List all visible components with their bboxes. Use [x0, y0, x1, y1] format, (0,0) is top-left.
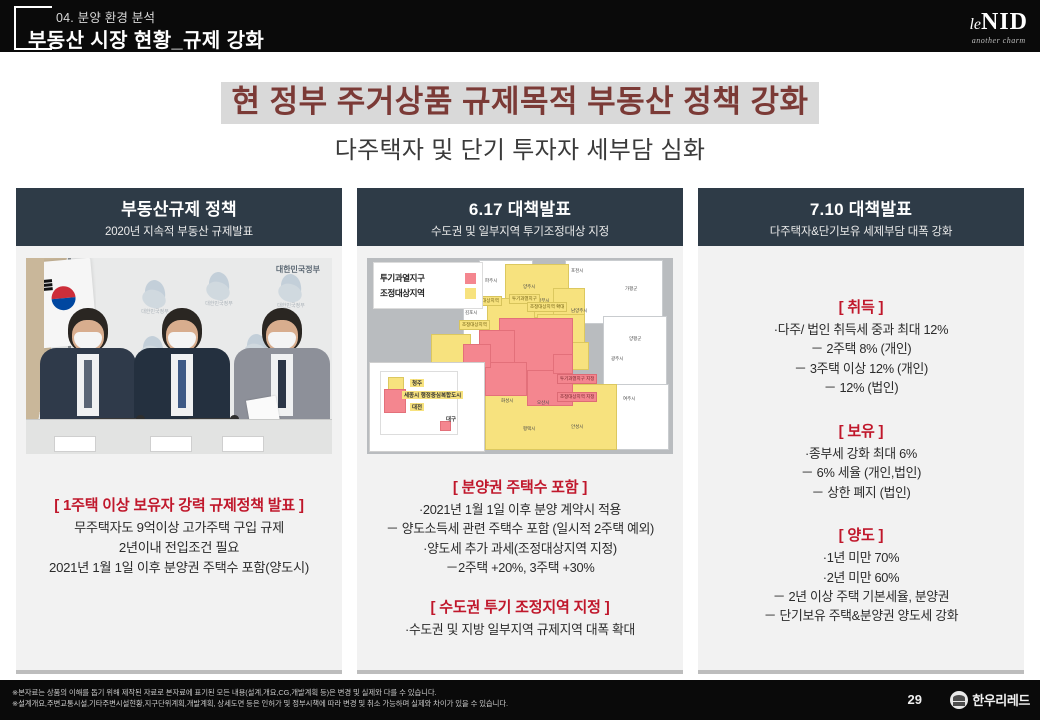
card3-block-line: － 6% 세율 (개인,법인) — [708, 463, 1014, 482]
legend-swatch-pink — [465, 273, 476, 284]
official-person — [134, 308, 230, 424]
card1-block-line: 무주택자도 9억이상 고가주택 구입 규제 — [26, 518, 332, 538]
card2-block-heading: [ 수도권 투기 조정지역 지정 ] — [367, 596, 673, 617]
inset-label: 세종시 행정중심복합도시 — [402, 391, 463, 399]
inset-label: 대구 — [444, 415, 458, 423]
footer-disclaimer-line1: ※본자료는 상품의 이해를 돕기 위해 제작된 자료로 본자료에 표기된 모든 … — [12, 687, 508, 698]
card1-title: 부동산규제 정책 — [121, 195, 237, 220]
inset-label: 청주 — [410, 379, 424, 387]
card3-block-acquisition: [ 취득 ] ·다주/ 법인 취득세 중과 최대 12% － 2주택 8% (개… — [708, 296, 1014, 398]
sub-title: 다주택자 및 단기 투자자 세부담 심화 — [0, 130, 1040, 165]
card-617-measures: 6.17 대책발표 수도권 및 일부지역 투기조정대상 지정 — [357, 188, 683, 674]
map-city-label: 양평군 — [629, 336, 641, 342]
card2-block-2: [ 수도권 투기 조정지역 지정 ] ·수도권 및 지방 일부지역 규제지역 대… — [367, 596, 673, 639]
card3-block-line: － 상한 폐지 (법인) — [708, 483, 1014, 502]
card3-header: 7.10 대책발표 다주택자&단기보유 세제부담 대폭 강화 — [698, 188, 1024, 246]
map-city-label: 파주시 — [485, 278, 497, 284]
card1-block-heading: [ 1주택 이상 보유자 강력 규제정책 발표 ] — [26, 494, 332, 515]
card2-block-line: － 양도소득세 관련 주택수 포함 (일시적 2주택 예외) — [367, 519, 673, 538]
card3-block-heading: [ 보유 ] — [708, 420, 1014, 441]
map-city-label: 안성시 — [571, 424, 583, 430]
main-title: 현 정부 주거상품 규제목적 부동산 정책 강화 — [221, 82, 818, 124]
map-annotation-tag: 조정대상지역 지정 — [557, 392, 597, 402]
page-number: 29 — [908, 692, 922, 707]
map-annotation-tag: 투기과열지구 지정 — [557, 374, 597, 384]
footer-brand-name: 한우리레드 — [972, 690, 1030, 709]
map-city-label: 김포시 — [465, 310, 477, 316]
card3-block-line: － 12% (법인) — [708, 378, 1014, 397]
legend-item-adjustment: 조정대상지역 — [380, 287, 476, 299]
title-section: 현 정부 주거상품 규제목적 부동산 정책 강화 다주택자 및 단기 투자자 세… — [0, 82, 1040, 165]
legend-swatch-yellow — [465, 288, 476, 299]
map-city-label: 양주시 — [523, 284, 535, 290]
map-city-label: 남양주시 — [571, 308, 588, 314]
card1-block-line: 2021년 1월 1일 이후 분양권 주택수 포함(양도시) — [26, 558, 332, 578]
card2-block-line: －2주택 +20%, 3주택 +30% — [367, 558, 673, 577]
map-zone-speculation — [485, 362, 527, 396]
map-city-label: 화성시 — [501, 398, 513, 404]
card1-header: 부동산규제 정책 2020년 지속적 부동산 규제발표 — [16, 188, 342, 246]
card3-block-holding: [ 보유 ] ·종부세 강화 최대 6% － 6% 세율 (개인,법인) － 상… — [708, 420, 1014, 502]
map-city-label: 오산시 — [537, 400, 549, 406]
card3-block-line: ·1년 미만 70% — [708, 548, 1014, 567]
official-person — [40, 308, 136, 424]
brand-logo: leNID another charm — [969, 10, 1028, 45]
card3-block-line: － 단기보유 주택&분양권 양도세 강화 — [708, 606, 1014, 625]
nameplate — [150, 436, 192, 452]
card2-header: 6.17 대책발표 수도권 및 일부지역 투기조정대상 지정 — [357, 188, 683, 246]
card2-subtitle: 수도권 및 일부지역 투기조정대상 지정 — [431, 223, 609, 239]
card1-subtitle: 2020년 지속적 부동산 규제발표 — [105, 223, 253, 239]
logo-tagline: another charm — [969, 36, 1028, 45]
page-title: 부동산 시장 현황_규제 강화 — [28, 24, 264, 53]
card1-body: 대한민국정부 대한민국정부 대한민국정부 대한민국정부 대한민국정부 대한민국정… — [16, 246, 342, 578]
card2-block-1: [ 분양권 주택수 포함 ] ·2021년 1월 1일 이후 분양 계약시 적용… — [367, 476, 673, 578]
map-zone-speculation — [553, 354, 573, 374]
card3-block-line: － 2년 이상 주택 기본세율, 분양권 — [708, 587, 1014, 606]
card2-block-line: ·수도권 및 지방 일부지역 규제지역 대폭 확대 — [367, 620, 673, 639]
card3-subtitle: 다주택자&단기보유 세제부담 대폭 강화 — [770, 223, 953, 239]
map-city-label: 포천시 — [571, 268, 583, 274]
footer-brand-logo: 한우리레드 — [950, 690, 1030, 709]
logo-le-text: le — [969, 16, 981, 33]
map-city-label: 여주시 — [623, 396, 635, 402]
map-city-label: 평택시 — [523, 426, 535, 432]
card3-block-heading: [ 취득 ] — [708, 296, 1014, 317]
card3-block-line: － 2주택 8% (개인) — [708, 339, 1014, 358]
nameplate — [54, 436, 96, 452]
card3-block-heading: [ 양도 ] — [708, 524, 1014, 545]
card-real-estate-policy: 부동산규제 정책 2020년 지속적 부동산 규제발표 대한민국정부 대한민국정… — [16, 188, 342, 674]
map-annotation-tag: 조정대상지역 확대 — [527, 302, 567, 312]
press-conference-photo: 대한민국정부 대한민국정부 대한민국정부 대한민국정부 대한민국정부 대한민국정… — [26, 258, 332, 454]
card2-block-line: ·양도세 추가 과세(조정대상지역 지정) — [367, 539, 673, 558]
footer-disclaimer: ※본자료는 상품의 이해를 돕기 위해 제작된 자료로 본자료에 표기된 모든 … — [12, 687, 508, 709]
slide-header: 04. 분양 환경 분석 부동산 시장 현황_규제 강화 leNID anoth… — [0, 0, 1040, 52]
map-annotation-tag: 조정대상지역 — [459, 320, 490, 330]
map-city-label: 가평군 — [625, 286, 637, 292]
map-inset-regional: 청주 세종시 행정중심복합도시 대전 대구 — [369, 362, 485, 452]
footer-disclaimer-line2: ※설계개요,주변교통시설,기타주변시설현황,지구단위계획,개발계획, 상세도면 … — [12, 698, 508, 709]
card3-block-line: ·다주/ 법인 취득세 중과 최대 12% — [708, 320, 1014, 339]
map-legend: 투기과열지구 조정대상지역 — [373, 262, 483, 309]
inset-label: 대전 — [410, 403, 424, 411]
nameplate — [222, 436, 264, 452]
card2-title: 6.17 대책발표 — [469, 195, 571, 220]
logo-wordmark: leNID — [969, 10, 1028, 34]
card2-block-heading: [ 분양권 주택수 포함 ] — [367, 476, 673, 497]
legend-item-speculation: 투기과열지구 — [380, 272, 476, 284]
legend-label: 투기과열지구 — [380, 272, 425, 284]
card3-block-line: － 3주택 이상 12% (개인) — [708, 359, 1014, 378]
hanwoori-logo-icon — [950, 691, 968, 709]
card3-body: [ 취득 ] ·다주/ 법인 취득세 중과 최대 12% － 2주택 8% (개… — [698, 246, 1024, 626]
card-710-measures: 7.10 대책발표 다주택자&단기보유 세제부담 대폭 강화 [ 취득 ] ·다… — [698, 188, 1024, 674]
card1-block: [ 1주택 이상 보유자 강력 규제정책 발표 ] 무주택자도 9억이상 고가주… — [26, 494, 332, 578]
card3-block-transfer: [ 양도 ] ·1년 미만 70% ·2년 미만 60% － 2년 이상 주택 … — [708, 524, 1014, 626]
card3-block-line: ·2년 미만 60% — [708, 568, 1014, 587]
card1-block-line: 2년이내 전입조건 필요 — [26, 538, 332, 558]
card2-block-line: ·2021년 1월 1일 이후 분양 계약시 적용 — [367, 500, 673, 519]
slide-footer: ※본자료는 상품의 이해를 돕기 위해 제작된 자료로 본자료에 표기된 모든 … — [0, 680, 1040, 720]
legend-label: 조정대상지역 — [380, 287, 425, 299]
regulation-zone-map: 파주시 포천시 가평군 양주시 의정부시 남양주시 김포시 인천시 광주시 화성… — [367, 258, 673, 454]
card3-block-line: ·종부세 강화 최대 6% — [708, 444, 1014, 463]
logo-nid-text: NID — [981, 9, 1028, 35]
card2-body: 파주시 포천시 가평군 양주시 의정부시 남양주시 김포시 인천시 광주시 화성… — [357, 246, 683, 639]
map-city-label: 광주시 — [611, 356, 623, 362]
slide-root: 04. 분양 환경 분석 부동산 시장 현황_규제 강화 leNID anoth… — [0, 0, 1040, 720]
card3-title: 7.10 대책발표 — [810, 195, 912, 220]
